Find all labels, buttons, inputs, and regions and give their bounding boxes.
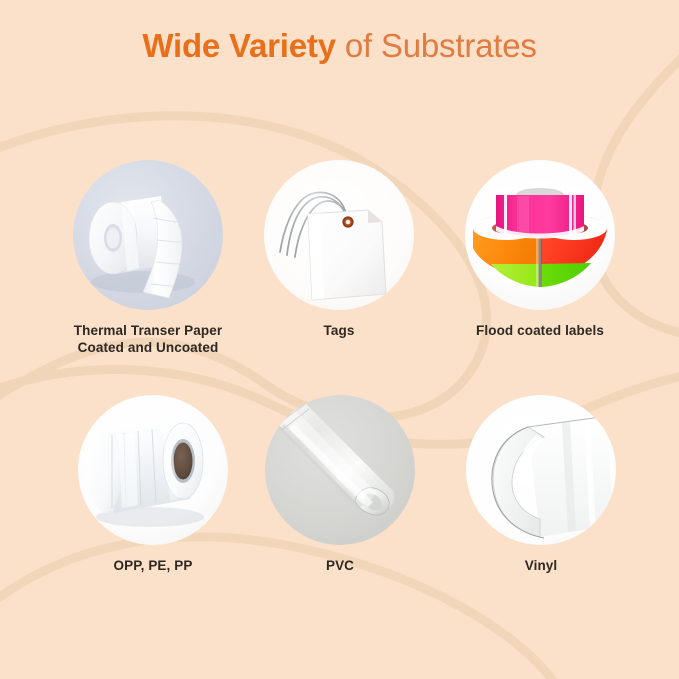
tags-disc — [264, 160, 414, 310]
item-opp-pe-pp: OPP, PE, PP — [53, 395, 253, 575]
caption-flood-coated-labels: Flood coated labels — [440, 323, 640, 340]
caption-line-1: Flood coated labels — [476, 323, 604, 338]
infographic-poster: Wide Variety of Substrates — [0, 0, 679, 679]
caption-line-2: Coated and Uncoated — [48, 340, 248, 357]
item-pvc: PVC — [240, 395, 440, 575]
caption-opp-pe-pp: OPP, PE, PP — [53, 558, 253, 575]
caption-line-1: OPP, PE, PP — [114, 558, 193, 573]
flood-coated-labels-disc — [465, 160, 615, 310]
stretch-film-roll-icon — [78, 395, 228, 545]
hang-tag-icon — [264, 160, 414, 310]
clear-vinyl-film-icon — [466, 395, 616, 545]
caption-line-1: Tags — [324, 323, 355, 338]
caption-pvc: PVC — [240, 558, 440, 575]
page-title-light: of Substrates — [336, 27, 537, 64]
thermal-paper-disc — [73, 160, 223, 310]
caption-line-1: Thermal Transer Paper — [74, 323, 222, 338]
white-label-roll-icon — [73, 160, 223, 310]
caption-line-1: PVC — [326, 558, 354, 573]
item-tags: Tags — [239, 160, 439, 340]
fluorescent-label-rolls-icon — [465, 160, 615, 310]
page-title: Wide Variety of Substrates — [0, 27, 679, 65]
caption-thermal-transfer-paper: Thermal Transer Paper Coated and Uncoate… — [48, 323, 248, 357]
pvc-disc — [265, 395, 415, 545]
item-vinyl: Vinyl — [441, 395, 641, 575]
caption-tags: Tags — [239, 323, 439, 340]
caption-vinyl: Vinyl — [441, 558, 641, 575]
caption-line-1: Vinyl — [525, 558, 558, 573]
page-title-strong: Wide Variety — [142, 27, 336, 64]
item-flood-coated-labels: Flood coated labels — [440, 160, 640, 340]
item-thermal-transfer-paper: Thermal Transer Paper Coated and Uncoate… — [48, 160, 248, 357]
vinyl-disc — [466, 395, 616, 545]
clear-pvc-sheet-icon — [265, 395, 415, 545]
opp-pe-pp-disc — [78, 395, 228, 545]
